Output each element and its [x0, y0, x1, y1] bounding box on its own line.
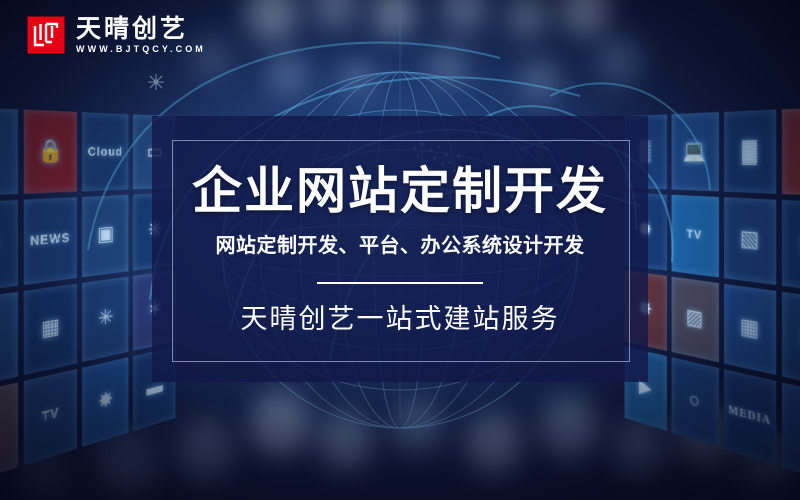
screen-tile: ◉	[0, 200, 18, 293]
screen-tile: ▦	[23, 283, 76, 375]
screen-tile: ▥	[782, 291, 800, 389]
screen-tile: ▲	[0, 107, 18, 197]
divider	[317, 282, 483, 284]
logo-text-block: 天晴创艺 WWW.BJTQCY.COM	[76, 17, 206, 54]
tile-label-news: NEWS	[30, 231, 70, 248]
world-map-icon: ▦	[740, 315, 759, 340]
brand-logo[interactable]: 天晴创艺 WWW.BJTQCY.COM	[27, 16, 206, 54]
screen-tile: □	[782, 382, 800, 486]
brand-name: 天晴创艺	[76, 17, 206, 42]
tile-icon: ▧	[740, 228, 759, 252]
panel-content: 企业网站定制开发 网站定制开发、平台、办公系统设计开发 天晴创艺一站式建站服务	[152, 116, 648, 382]
tianqing-logo-mark-icon	[27, 16, 65, 54]
screen-tile: MEDIA	[724, 369, 777, 466]
screen-tile: ▤	[782, 200, 800, 293]
screen-tile: ↑	[0, 291, 18, 389]
screen-tile: TV	[23, 369, 76, 466]
lock-icon: 🔒	[38, 141, 64, 163]
screen-tile: NEWS	[23, 198, 76, 285]
screen-tile: ░	[782, 107, 800, 197]
tile-label-tv: TV	[42, 407, 59, 426]
headline-panel: 企业网站定制开发 网站定制开发、平台、办公系统设计开发 天晴创艺一站式建站服务	[152, 116, 648, 382]
page-title: 企业网站定制开发	[192, 166, 608, 216]
page-subtitle: 网站定制开发、平台、办公系统设计开发	[216, 236, 585, 256]
promo-banner: ▲ 🔒 Cloud ▭ ◉ NEWS ▣ ✳ ↑ ▦ ✳ ✶ ● TV ✸	[0, 0, 800, 500]
screen-tile: ●	[0, 382, 18, 486]
tile-icon: ▓	[742, 141, 757, 163]
tile-icon: ▦	[41, 315, 60, 340]
page-tagline: 天晴创艺一站式建站服务	[241, 306, 560, 333]
brand-url: WWW.BJTQCY.COM	[76, 45, 206, 54]
screen-tile: ▧	[724, 198, 777, 285]
screen-tile: ▓	[724, 110, 777, 194]
screen-tile: ▦	[724, 283, 777, 375]
screen-tile: 🔒	[23, 110, 76, 194]
tile-label-media: MEDIA	[728, 404, 771, 428]
